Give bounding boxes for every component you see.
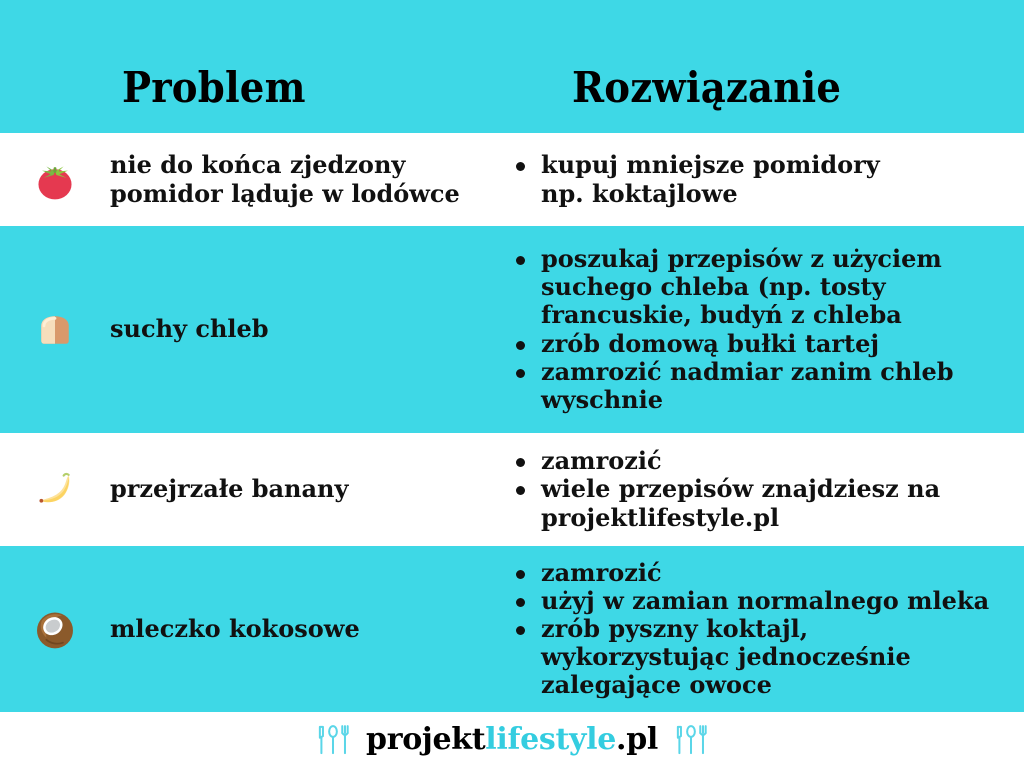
list-item: zrób domową bułki tartej (510, 330, 954, 358)
brand-part-projekt: projekt (366, 722, 485, 757)
header-band: Problem Rozwiązanie (0, 0, 1024, 133)
infographic-page: Problem Rozwiązanie nie do końca zjedzon… (0, 0, 1024, 768)
solution-list: kupuj mniejsze pomidory np. koktajlowe (500, 151, 880, 207)
table-row: suchy chleb poszukaj przepisów z użyciem… (0, 226, 1024, 433)
list-item: zamrozić nadmiar zanim chleb wyschnie (510, 358, 954, 414)
list-item: zamrozić (510, 559, 989, 587)
brand-logo[interactable]: projektlifestyle.pl (366, 725, 658, 755)
solution-cell: kupuj mniejsze pomidory np. koktajlowe (500, 133, 1024, 226)
bread-icon (0, 307, 110, 353)
coconut-icon (0, 606, 110, 653)
list-item: zamrozić (510, 447, 940, 475)
problem-cell: przejrzałe banany (0, 433, 500, 546)
problem-text: nie do końca zjedzony pomidor ląduje w l… (110, 151, 460, 207)
table-row: mleczko kokosowe zamrozić użyj w zamian … (0, 546, 1024, 712)
cutlery-icon (672, 723, 710, 757)
solution-cell: zamrozić użyj w zamian normalnego mleka … (500, 546, 1024, 712)
list-item: użyj w zamian normalnego mleka (510, 587, 989, 615)
tomato-icon (0, 156, 110, 203)
problem-cell: mleczko kokosowe (0, 546, 500, 712)
table-row: przejrzałe banany zamrozić wiele przepis… (0, 433, 1024, 546)
solution-list: poszukaj przepisów z użyciem suchego chl… (500, 245, 954, 413)
problem-text: mleczko kokosowe (110, 615, 360, 643)
brand-part-lifestyle: lifestyle (485, 722, 616, 757)
solution-list: zamrozić użyj w zamian normalnego mleka … (500, 559, 989, 699)
column-header-solution: Rozwiązanie (572, 67, 841, 109)
solution-cell: poszukaj przepisów z użyciem suchego chl… (500, 226, 1024, 433)
list-item: poszukaj przepisów z użyciem suchego chl… (510, 245, 954, 329)
column-header-problem: Problem (122, 67, 306, 109)
problem-text: przejrzałe banany (110, 475, 348, 503)
problem-cell: suchy chleb (0, 226, 500, 433)
cutlery-icon (314, 723, 352, 757)
table-row: nie do końca zjedzony pomidor ląduje w l… (0, 133, 1024, 226)
list-item: zrób pyszny koktajl, wykorzystując jedno… (510, 615, 989, 699)
list-item: wiele przepisów znajdziesz na projektlif… (510, 475, 940, 531)
brand-part-tld: .pl (616, 722, 658, 757)
solution-cell: zamrozić wiele przepisów znajdziesz na p… (500, 433, 1024, 546)
solution-list: zamrozić wiele przepisów znajdziesz na p… (500, 447, 940, 531)
problem-text: suchy chleb (110, 315, 269, 343)
footer-logo-bar: projektlifestyle.pl (0, 712, 1024, 768)
list-item: kupuj mniejsze pomidory np. koktajlowe (510, 151, 880, 207)
banana-icon (0, 466, 110, 513)
problem-cell: nie do końca zjedzony pomidor ląduje w l… (0, 133, 500, 226)
